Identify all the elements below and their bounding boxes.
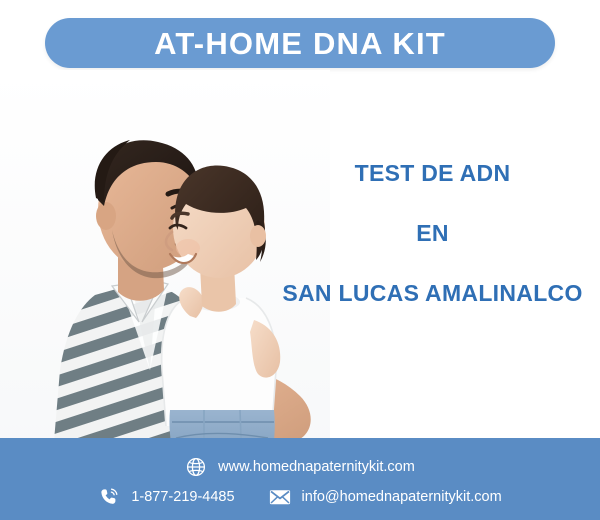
headline-line-2: EN [270, 220, 595, 247]
envelope-icon [269, 486, 291, 508]
website-item[interactable]: www.homednapaternitykit.com [185, 456, 415, 478]
email-item[interactable]: info@homednapaternitykit.com [269, 486, 502, 508]
phone-item[interactable]: 1-877-219-4485 [98, 486, 234, 508]
headline-line-3: SAN LUCAS AMALINALCO [270, 280, 595, 307]
poster-canvas: AT-HOME DNA KIT [0, 0, 600, 520]
website-text: www.homednapaternitykit.com [218, 460, 415, 475]
footer-contact-row: 1-877-219-4485 info@homednapaternitykit.… [0, 486, 600, 508]
banner-title: AT-HOME DNA KIT [154, 28, 446, 59]
headline-block: TEST DE ADN EN SAN LUCAS AMALINALCO [270, 160, 595, 307]
footer-website-row: www.homednapaternitykit.com [0, 456, 600, 478]
phone-text: 1-877-219-4485 [131, 490, 234, 505]
title-banner: AT-HOME DNA KIT [45, 18, 555, 68]
globe-icon [185, 456, 207, 478]
headline-line-1: TEST DE ADN [270, 160, 595, 187]
contact-footer: www.homednapaternitykit.com 1-877-219-44… [0, 438, 600, 520]
email-text: info@homednapaternitykit.com [302, 490, 502, 505]
phone-icon [98, 486, 120, 508]
